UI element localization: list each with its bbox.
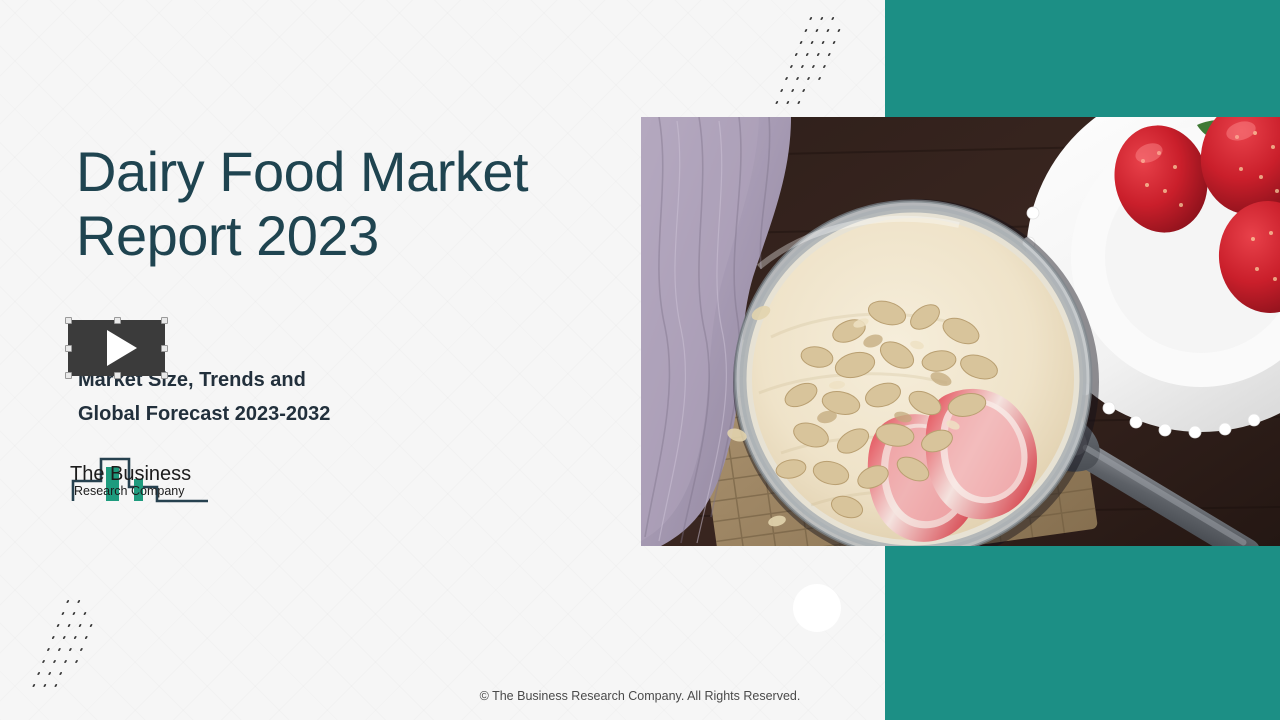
selection-handle-top-right[interactable] [161,317,168,324]
logo-line-1: The Business [70,463,191,485]
circle-accent [793,584,841,632]
selection-handle-top-left[interactable] [65,317,72,324]
play-video-button[interactable] [68,320,165,376]
presentation-slide: Dairy Food Market Report 2023 Market Siz… [0,0,1280,720]
selection-handle-bottom-middle[interactable] [114,372,121,379]
page-title: Dairy Food Market Report 2023 [76,140,636,268]
hero-photo [641,117,1280,546]
play-icon [107,330,137,366]
selection-handle-bottom-right[interactable] [161,372,168,379]
dot-pattern-bottom-left [29,600,112,696]
dot-pattern-top-right [772,17,855,113]
subtitle-line-2: Global Forecast 2023-2032 [78,397,518,431]
selection-handle-middle-left[interactable] [65,345,72,352]
logo-line-2: Research Company [74,484,185,498]
selection-handle-middle-right[interactable] [161,345,168,352]
selection-handle-top-middle[interactable] [114,317,121,324]
selection-handle-bottom-left[interactable] [65,372,72,379]
copyright-footer: © The Business Research Company. All Rig… [0,689,1280,703]
company-logo: The Business Research Company [68,450,283,510]
